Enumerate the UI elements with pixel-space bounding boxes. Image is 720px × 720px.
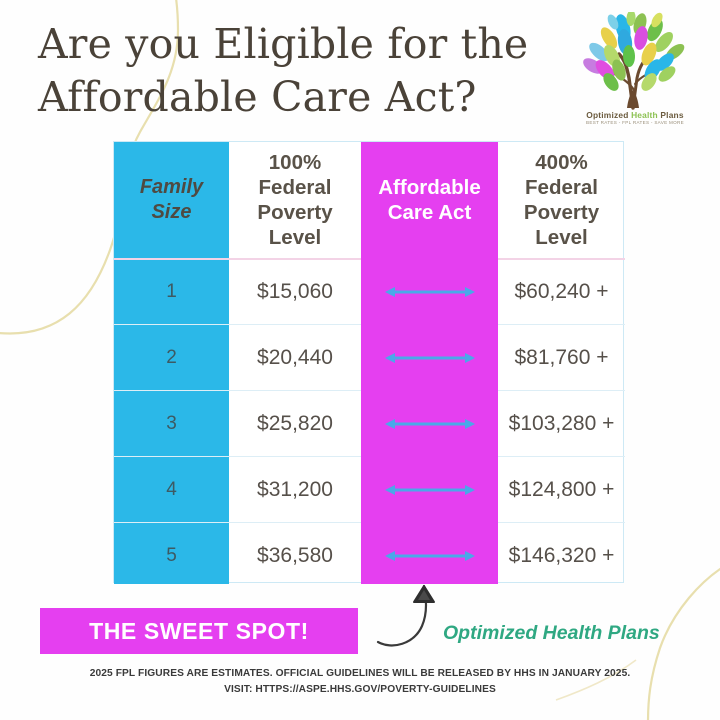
eligibility-table: Family Size 100% Federal Poverty Level A…	[113, 141, 624, 583]
table-row: 4 $31,200 $124,800 +	[114, 457, 625, 522]
double-arrow-icon	[361, 391, 498, 456]
family-size-line-1: Family	[140, 175, 203, 200]
infographic-poster: Are you Eligible for the Affordable Care…	[0, 0, 720, 720]
cell-fpl-400: $124,800 +	[498, 457, 625, 522]
table-row: 1 $15,060 $60,240 +	[114, 259, 625, 324]
logo-word-3: Plans	[660, 110, 683, 120]
footer-line-1: 2025 FPL FIGURES ARE ESTIMATES. OFFICIAL…	[60, 666, 660, 682]
cell-family-size: 4	[114, 457, 229, 522]
column-header-aca: Affordable Care Act	[361, 142, 498, 258]
cell-family-size: 3	[114, 391, 229, 456]
tree-logo-icon	[565, 12, 705, 112]
aca-line-1: Affordable	[378, 175, 481, 200]
footer-line-2: VISIT: HTTPS://ASPE.HHS.GOV/POVERTY-GUID…	[60, 682, 660, 698]
cell-fpl-100: $15,060	[229, 259, 361, 324]
fpl400-line-2: Federal	[524, 175, 599, 200]
cell-family-size: 5	[114, 523, 229, 588]
table-grid: Family Size 100% Federal Poverty Level A…	[114, 142, 625, 584]
table-row: 2 $20,440 $81,760 +	[114, 325, 625, 390]
cell-fpl-100: $36,580	[229, 523, 361, 588]
fpl100-line-2: Federal	[257, 175, 332, 200]
double-arrow-icon	[361, 259, 498, 324]
footer-disclaimer: 2025 FPL FIGURES ARE ESTIMATES. OFFICIAL…	[60, 666, 660, 698]
column-header-family-size: Family Size	[114, 142, 229, 258]
fpl400-line-4: Level	[524, 225, 599, 250]
brand-name-text: Optimized Health Plans	[443, 622, 660, 645]
cell-fpl-400: $81,760 +	[498, 325, 625, 390]
fpl400-line-3: Poverty	[524, 200, 599, 225]
logo-tagline: BEST RATES - FPL RATES - SAVE MORE	[565, 120, 705, 125]
cell-fpl-400: $60,240 +	[498, 259, 625, 324]
double-arrow-icon	[361, 457, 498, 522]
headline-line-2: Affordable Care Act?	[38, 71, 558, 124]
sweet-spot-label: THE SWEET SPOT!	[89, 618, 309, 645]
page-title: Are you Eligible for the Affordable Care…	[38, 18, 558, 125]
logo-word-1: Optimized	[586, 110, 628, 120]
fpl400-line-1: 400%	[524, 150, 599, 175]
family-size-line-2: Size	[140, 200, 203, 225]
sweet-spot-banner: THE SWEET SPOT!	[40, 608, 358, 654]
column-header-400-fpl: 400% Federal Poverty Level	[498, 142, 625, 258]
cell-fpl-100: $31,200	[229, 457, 361, 522]
fpl100-line-4: Level	[257, 225, 332, 250]
fpl100-line-1: 100%	[257, 150, 332, 175]
cell-family-size: 2	[114, 325, 229, 390]
logo-wordmark: Optimized Health Plans	[565, 110, 705, 120]
cell-fpl-400: $103,280 +	[498, 391, 625, 456]
headline-line-1: Are you Eligible for the	[38, 20, 528, 68]
cell-family-size: 1	[114, 259, 229, 324]
aca-line-2: Care Act	[378, 200, 481, 225]
column-header-100-fpl: 100% Federal Poverty Level	[229, 142, 361, 258]
logo-word-2: Health	[631, 110, 658, 120]
brand-logo: Optimized Health Plans BEST RATES - FPL …	[565, 12, 705, 134]
table-header-row: Family Size 100% Federal Poverty Level A…	[114, 142, 625, 258]
cell-fpl-100: $25,820	[229, 391, 361, 456]
cell-fpl-400: $146,320 +	[498, 523, 625, 588]
table-row: 3 $25,820 $103,280 +	[114, 391, 625, 456]
fpl100-line-3: Poverty	[257, 200, 332, 225]
double-arrow-icon	[361, 325, 498, 390]
cell-fpl-100: $20,440	[229, 325, 361, 390]
